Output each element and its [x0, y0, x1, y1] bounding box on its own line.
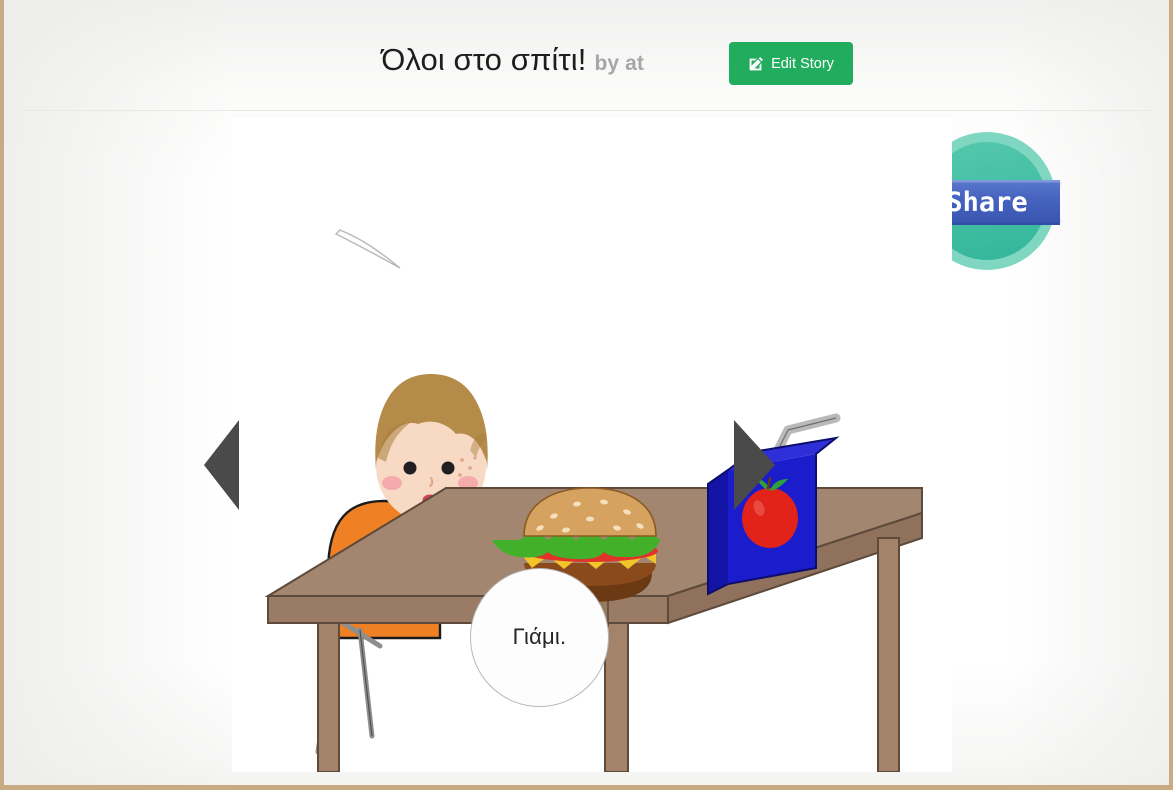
speech-bubble-tail — [336, 230, 400, 268]
edit-story-button[interactable]: Edit Story — [729, 42, 853, 85]
share-label: Share — [946, 187, 1027, 218]
app-window: Όλοι στο σπίτι!by at Edit Story Μέσα στη… — [0, 0, 1173, 790]
story-title-text: Όλοι στο σπίτι! — [381, 42, 586, 77]
edit-pen-square-icon — [748, 56, 764, 72]
triangle-left-icon[interactable] — [204, 420, 239, 510]
header-divider — [22, 110, 1151, 111]
speech-bubble: Γιάμι. — [470, 568, 609, 707]
illustration-panel: Γιάμι. — [232, 118, 952, 772]
triangle-right-icon[interactable] — [734, 420, 775, 510]
edit-story-label: Edit Story — [771, 56, 834, 72]
story-header: Όλοι στο σπίτι!by at Edit Story — [4, 0, 1169, 110]
story-byline: by at — [594, 52, 644, 75]
speech-bubble-text: Γιάμι. — [513, 624, 567, 650]
page-title: Όλοι στο σπίτι!by at — [4, 44, 644, 75]
